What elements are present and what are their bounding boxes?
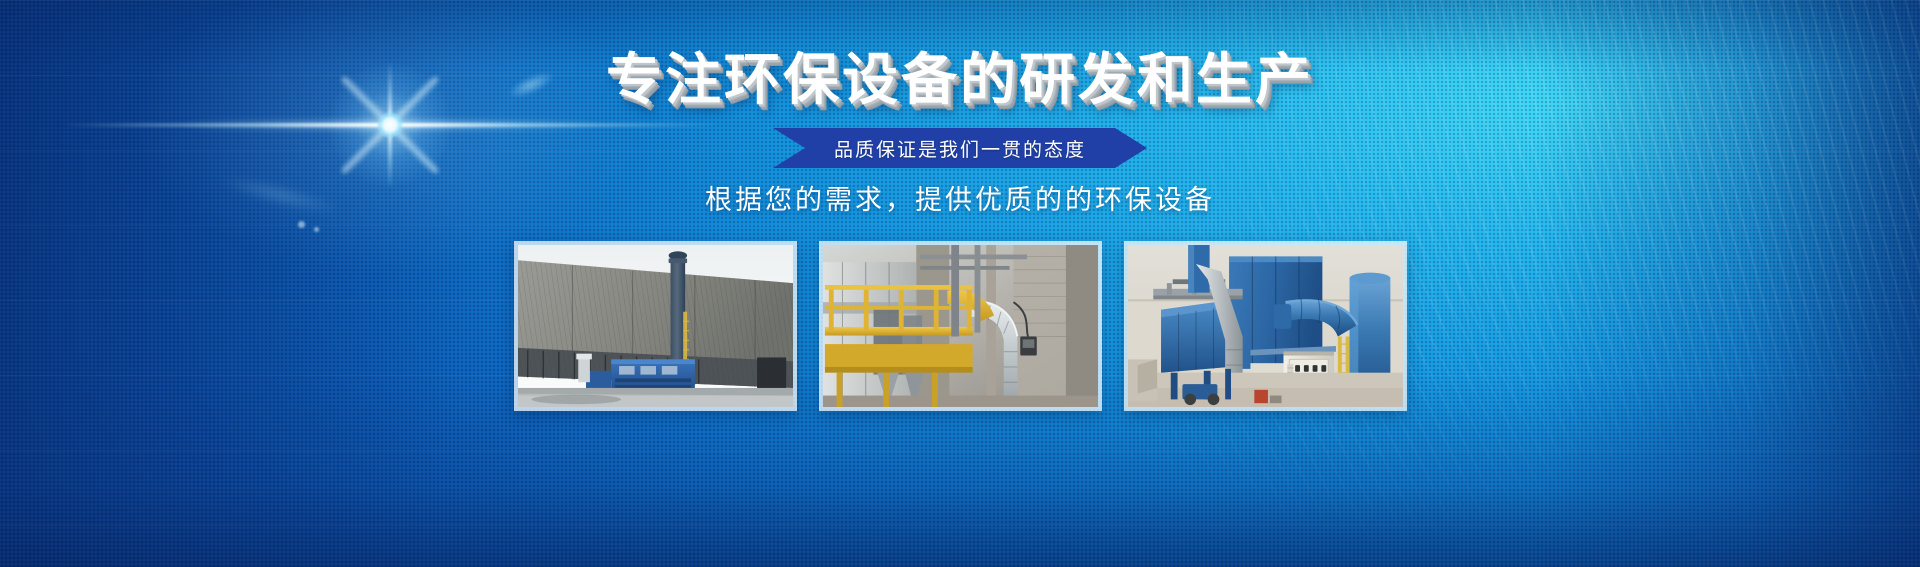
promo-banner: 专注环保设备的研发和生产 品质保证是我们一贯的态度 根据您的需求，提供优质的的环… — [0, 0, 1920, 567]
page-subtitle: 根据您的需求，提供优质的的环保设备 — [0, 178, 1920, 217]
photo-3-illustration: 环保设备 — [1128, 245, 1403, 407]
photo-2-illustration — [823, 245, 1098, 407]
badge-container: 品质保证是我们一贯的态度 — [0, 128, 1920, 168]
photo-card-3[interactable]: 环保设备 — [1124, 241, 1407, 411]
status-badge: 品质保证是我们一贯的态度 — [773, 128, 1147, 168]
photo-card-2[interactable] — [819, 241, 1102, 411]
photo-workshop-exterior — [518, 245, 793, 407]
photo-blue-dust-collector: 环保设备 — [1128, 245, 1403, 407]
banner-content: 专注环保设备的研发和生产 品质保证是我们一贯的态度 根据您的需求，提供优质的的环… — [0, 0, 1920, 567]
page-title: 专注环保设备的研发和生产 — [0, 52, 1920, 108]
photo-gallery: 环保设备 — [0, 241, 1920, 411]
photo-platform-ducting — [823, 245, 1098, 407]
photo-card-1[interactable] — [514, 241, 797, 411]
badge-label: 品质保证是我们一贯的态度 — [834, 135, 1086, 162]
photo-1-illustration — [518, 245, 793, 407]
